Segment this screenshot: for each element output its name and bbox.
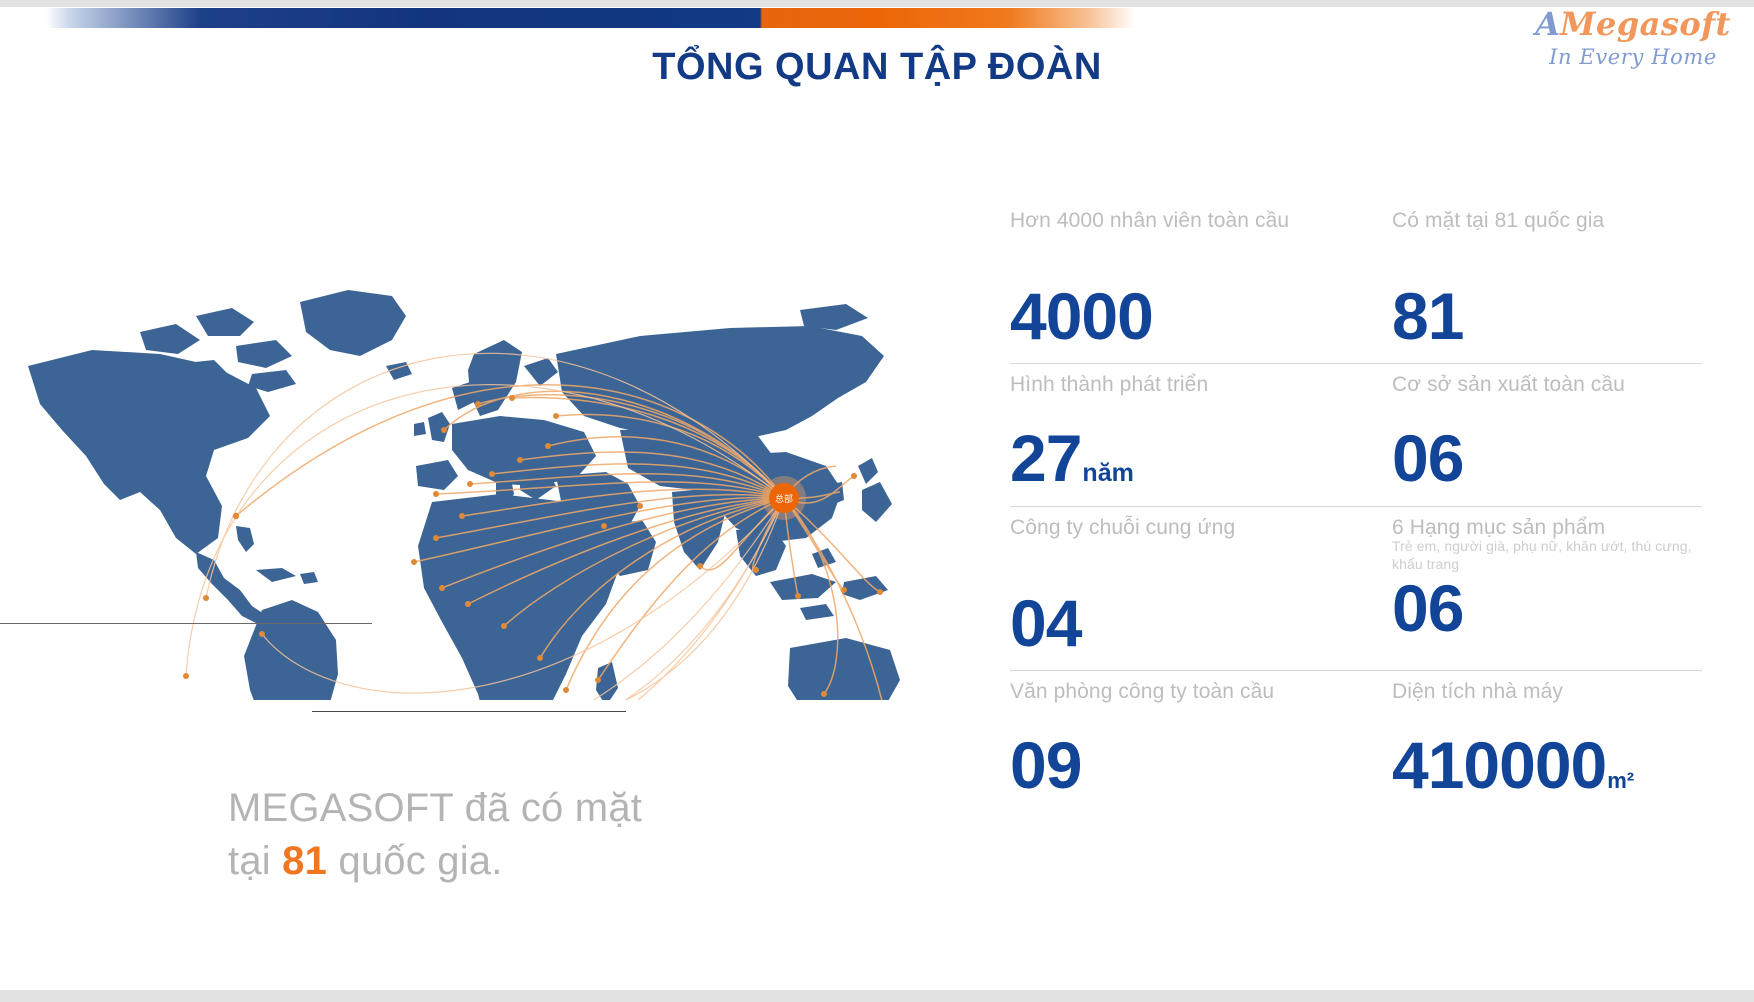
stat-number: 09 xyxy=(1010,728,1081,802)
stats-row: Công ty chuỗi cung ứng 04 6 Hạng mục sản… xyxy=(1010,507,1702,671)
stat-label: Cơ sở sản xuất toàn cầu xyxy=(1392,372,1702,424)
stat-value: 09 xyxy=(1010,731,1356,800)
stat-card-factories: Cơ sở sản xuất toàn cầu 06 xyxy=(1356,364,1702,505)
stat-number: 27 xyxy=(1010,421,1081,495)
logo-tagline: In Every Home xyxy=(1530,47,1736,68)
map-caption-line2-post: quốc gia. xyxy=(327,839,502,883)
map-caption: MEGASOFT đã có mặt tại 81 quốc gia. xyxy=(228,782,748,888)
stats-grid: Hơn 4000 nhân viên toàn cầu 4000 Có mặt … xyxy=(1010,200,1702,812)
stat-value: 81 xyxy=(1392,282,1702,351)
stat-label: Hơn 4000 nhân viên toàn cầu xyxy=(1010,208,1356,282)
stat-card-employees: Hơn 4000 nhân viên toàn cầu 4000 xyxy=(1010,200,1356,363)
page-title: TỔNG QUAN TẬP ĐOÀN xyxy=(0,46,1754,89)
stat-label: Hình thành phát triển xyxy=(1010,372,1356,424)
map-bottom-rule xyxy=(312,711,626,712)
stats-row: Hơn 4000 nhân viên toàn cầu 4000 Có mặt … xyxy=(1010,200,1702,364)
stat-label: Công ty chuỗi cung ứng xyxy=(1010,515,1356,589)
stat-card-countries: Có mặt tại 81 quốc gia 81 xyxy=(1356,200,1702,363)
stat-value: 06 xyxy=(1392,574,1702,643)
stat-value: 4000 xyxy=(1010,282,1356,351)
slide-canvas: TỔNG QUAN TẬP ĐOÀN AMegasoft In Every Ho… xyxy=(0,0,1754,1002)
stat-card-supply-chain: Công ty chuỗi cung ứng 04 xyxy=(1010,507,1356,670)
accent-gradient-bar xyxy=(0,8,1754,28)
map-left-rule xyxy=(0,623,372,624)
stat-value: 04 xyxy=(1010,589,1356,658)
stat-card-product-categories: 6 Hạng mục sản phẩm Trẻ em, người già, p… xyxy=(1356,507,1702,670)
stat-sublabel: Trẻ em, người già, phụ nữ, khăn ướt, thú… xyxy=(1392,538,1702,574)
page-top-band xyxy=(0,0,1754,7)
map-hub-marker: 总部 xyxy=(762,476,806,520)
stat-label: 6 Hạng mục sản phẩm xyxy=(1392,515,1702,541)
map-hub-label: 总部 xyxy=(775,493,793,505)
stat-number: 81 xyxy=(1392,279,1463,353)
stat-value: 06 xyxy=(1392,424,1702,493)
map-caption-highlight: 81 xyxy=(282,839,327,883)
megasoft-logo: AMegasoft In Every Home xyxy=(1530,8,1736,90)
stats-row: Văn phòng công ty toàn cầu 09 Diện tích … xyxy=(1010,671,1702,812)
stat-card-years: Hình thành phát triển 27năm xyxy=(1010,364,1356,505)
stat-card-offices: Văn phòng công ty toàn cầu 09 xyxy=(1010,671,1356,812)
stat-unit: m² xyxy=(1607,768,1634,793)
logo-letter-a: A xyxy=(1535,5,1560,43)
world-map: 总部 xyxy=(0,270,900,700)
stat-unit: năm xyxy=(1082,459,1133,487)
page-bottom-band xyxy=(0,990,1754,1002)
map-caption-line2-pre: tại xyxy=(228,839,282,883)
stat-value: 27năm xyxy=(1010,424,1356,493)
stat-label: Diện tích nhà máy xyxy=(1392,679,1702,731)
stat-label: Có mặt tại 81 quốc gia xyxy=(1392,208,1702,282)
stat-value: 410000m² xyxy=(1392,731,1702,800)
stat-label: Văn phòng công ty toàn cầu xyxy=(1010,679,1356,731)
stat-card-factory-area: Diện tích nhà máy 410000m² xyxy=(1356,671,1702,812)
stat-number: 04 xyxy=(1010,586,1081,660)
stats-row: Hình thành phát triển 27năm Cơ sở sản xu… xyxy=(1010,364,1702,506)
stat-number: 06 xyxy=(1392,571,1463,645)
world-map-svg: 总部 xyxy=(0,270,900,700)
map-caption-line1: MEGASOFT đã có mặt xyxy=(228,786,642,830)
stat-number: 06 xyxy=(1392,421,1463,495)
stat-number: 410000 xyxy=(1392,728,1606,802)
logo-brand-text: Megasoft xyxy=(1560,5,1731,43)
stat-number: 4000 xyxy=(1010,279,1153,353)
logo-wordmark: AMegasoft xyxy=(1530,8,1736,40)
